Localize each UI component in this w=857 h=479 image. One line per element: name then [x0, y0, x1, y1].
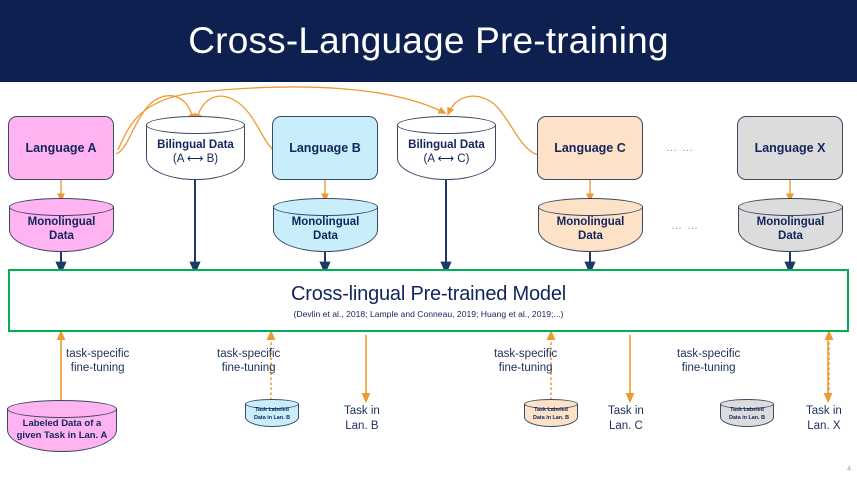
bilingual-ab-line1: Bilingual Data: [157, 138, 234, 152]
task-labeled-cylinder-c-label: Task Labeled Data in Lan. B: [524, 406, 578, 424]
mono-c-line1: Monolingual: [557, 215, 625, 229]
mono-a-line1: Monolingual: [28, 215, 96, 229]
mono-x-line2: Data: [778, 229, 803, 243]
language-box-x-label: Language X: [755, 141, 826, 156]
task-labeled-x-line2: Data in Lan. B: [729, 415, 765, 423]
monolingual-cylinder-b[interactable]: Monolingual Data: [273, 198, 378, 252]
task-output-b-line2: Lan. B: [344, 419, 380, 434]
mono-a-line2: Data: [49, 229, 74, 243]
bilingual-cylinder-ac-label: Bilingual Data (A ⟷ C): [397, 132, 496, 172]
task-labeled-cylinder-c[interactable]: Task Labeled Data in Lan. B: [524, 399, 578, 427]
task-output-x-line2: Lan. X: [806, 419, 842, 434]
monolingual-cylinder-a-label: Monolingual Data: [9, 212, 114, 246]
task-labeled-b-line2: Data in Lan. B: [254, 415, 290, 423]
language-box-c[interactable]: Language C: [537, 116, 643, 180]
task-output-b-line1: Task in: [344, 404, 380, 419]
bilingual-ac-line1: Bilingual Data: [408, 138, 485, 152]
task-labeled-c-line2: Data in Lan. B: [533, 415, 569, 423]
finetune-label-x: task-specific fine-tuning: [677, 347, 740, 376]
language-box-x[interactable]: Language X: [737, 116, 843, 180]
labeled-source-line2: given Task in Lan. A: [17, 430, 108, 442]
task-output-c-line2: Lan. C: [608, 419, 644, 434]
page-title: Cross-Language Pre-training: [0, 0, 857, 82]
language-box-b-label: Language B: [289, 141, 361, 156]
finetune-b-line2: fine-tuning: [217, 361, 280, 375]
slide-canvas: Cross-Language Pre-training: [0, 0, 857, 479]
finetune-a-line1: task-specific: [66, 347, 129, 361]
finetune-a-line2: fine-tuning: [66, 361, 129, 375]
labeled-data-cylinder-a[interactable]: Labeled Data of a given Task in Lan. A: [7, 400, 117, 452]
bilingual-cylinder-ac[interactable]: Bilingual Data (A ⟷ C): [397, 116, 496, 180]
monolingual-cylinder-x[interactable]: Monolingual Data: [738, 198, 843, 252]
task-output-c: Task in Lan. C: [608, 404, 644, 434]
mono-x-line1: Monolingual: [757, 215, 825, 229]
model-citation: (Devlin et al., 2018; Lample and Conneau…: [294, 309, 564, 319]
bilingual-cylinder-ab[interactable]: Bilingual Data (A ⟷ B): [146, 116, 245, 180]
task-labeled-cylinder-b-label: Task Labeled Data in Lan. B: [245, 406, 299, 424]
mono-b-line1: Monolingual: [292, 215, 360, 229]
task-labeled-cylinder-x[interactable]: Task Labeled Data in Lan. B: [720, 399, 774, 427]
bilingual-ac-line2: (A ⟷ C): [424, 152, 470, 166]
finetune-label-b: task-specific fine-tuning: [217, 347, 280, 376]
page-number: 4: [847, 466, 851, 473]
task-labeled-b-line1: Task Labeled: [255, 407, 289, 415]
mono-b-line2: Data: [313, 229, 338, 243]
bilingual-ab-line2: (A ⟷ B): [173, 152, 218, 166]
finetune-c-line2: fine-tuning: [494, 361, 557, 375]
mono-c-line2: Data: [578, 229, 603, 243]
labeled-data-cylinder-a-label: Labeled Data of a given Task in Lan. A: [7, 413, 117, 447]
cross-lingual-model-box[interactable]: Cross-lingual Pre-trained Model (Devlin …: [8, 269, 849, 332]
finetune-x-line2: fine-tuning: [677, 361, 740, 375]
bilingual-cylinder-ab-label: Bilingual Data (A ⟷ B): [146, 132, 245, 172]
language-box-c-label: Language C: [554, 141, 626, 156]
finetune-b-line1: task-specific: [217, 347, 280, 361]
ellipsis-row1: … …: [666, 142, 694, 154]
task-output-x-line1: Task in: [806, 404, 842, 419]
monolingual-cylinder-c-label: Monolingual Data: [538, 212, 643, 246]
monolingual-cylinder-b-label: Monolingual Data: [273, 212, 378, 246]
language-box-a-label: Language A: [25, 141, 96, 156]
task-output-c-line1: Task in: [608, 404, 644, 419]
model-title: Cross-lingual Pre-trained Model: [291, 283, 566, 306]
finetune-x-line1: task-specific: [677, 347, 740, 361]
monolingual-cylinder-a[interactable]: Monolingual Data: [9, 198, 114, 252]
task-labeled-cylinder-b[interactable]: Task Labeled Data in Lan. B: [245, 399, 299, 427]
title-banner: Cross-Language Pre-training: [0, 0, 857, 82]
ellipsis-row2: … …: [671, 220, 699, 232]
task-output-b: Task in Lan. B: [344, 404, 380, 434]
task-labeled-x-line1: Task Labeled: [730, 407, 764, 415]
labeled-source-line1: Labeled Data of a: [23, 418, 102, 430]
monolingual-cylinder-c[interactable]: Monolingual Data: [538, 198, 643, 252]
finetune-label-a: task-specific fine-tuning: [66, 347, 129, 376]
finetune-label-c: task-specific fine-tuning: [494, 347, 557, 376]
task-output-x: Task in Lan. X: [806, 404, 842, 434]
monolingual-cylinder-x-label: Monolingual Data: [738, 212, 843, 246]
task-labeled-c-line1: Task Labeled: [534, 407, 568, 415]
task-labeled-cylinder-x-label: Task Labeled Data in Lan. B: [720, 406, 774, 424]
language-box-b[interactable]: Language B: [272, 116, 378, 180]
finetune-c-line1: task-specific: [494, 347, 557, 361]
language-box-a[interactable]: Language A: [8, 116, 114, 180]
